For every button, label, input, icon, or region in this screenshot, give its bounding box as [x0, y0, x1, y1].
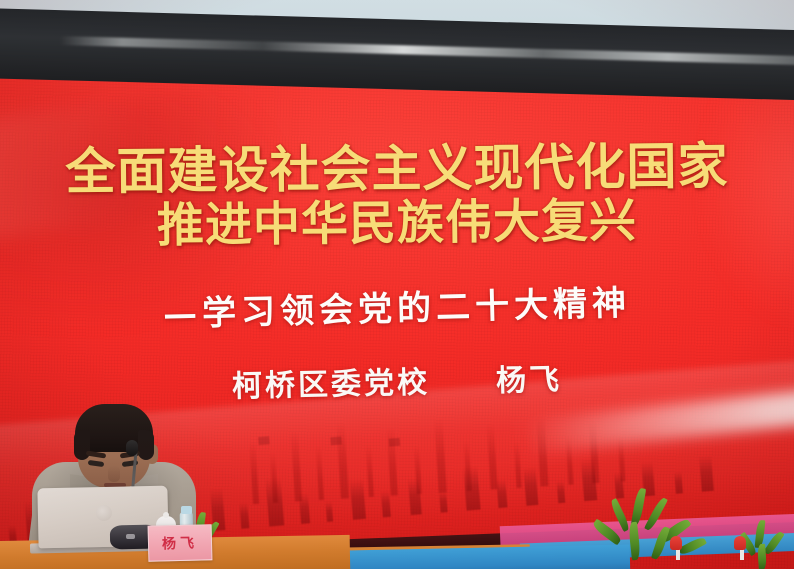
name-card: 杨飞 — [148, 524, 213, 562]
laptop-logo-icon — [96, 505, 112, 521]
name-card-label: 杨飞 — [162, 533, 198, 554]
foreground-layer: 杨飞 — [0, 0, 794, 569]
speaker-hair-right — [138, 430, 154, 460]
flower-icon — [734, 536, 746, 550]
water-bottle-cap — [181, 506, 192, 514]
speaker-nose — [108, 466, 120, 482]
tea-cup-lid-knob — [163, 512, 169, 518]
microphone-head-icon — [126, 440, 138, 456]
flower-icon — [670, 536, 682, 550]
microphone-indicator-icon — [126, 534, 135, 539]
lecture-photo: 全面建设社会主义现代化国家 推进中华民族伟大复兴 —学习领会党的二十大精神 柯桥… — [0, 0, 794, 569]
